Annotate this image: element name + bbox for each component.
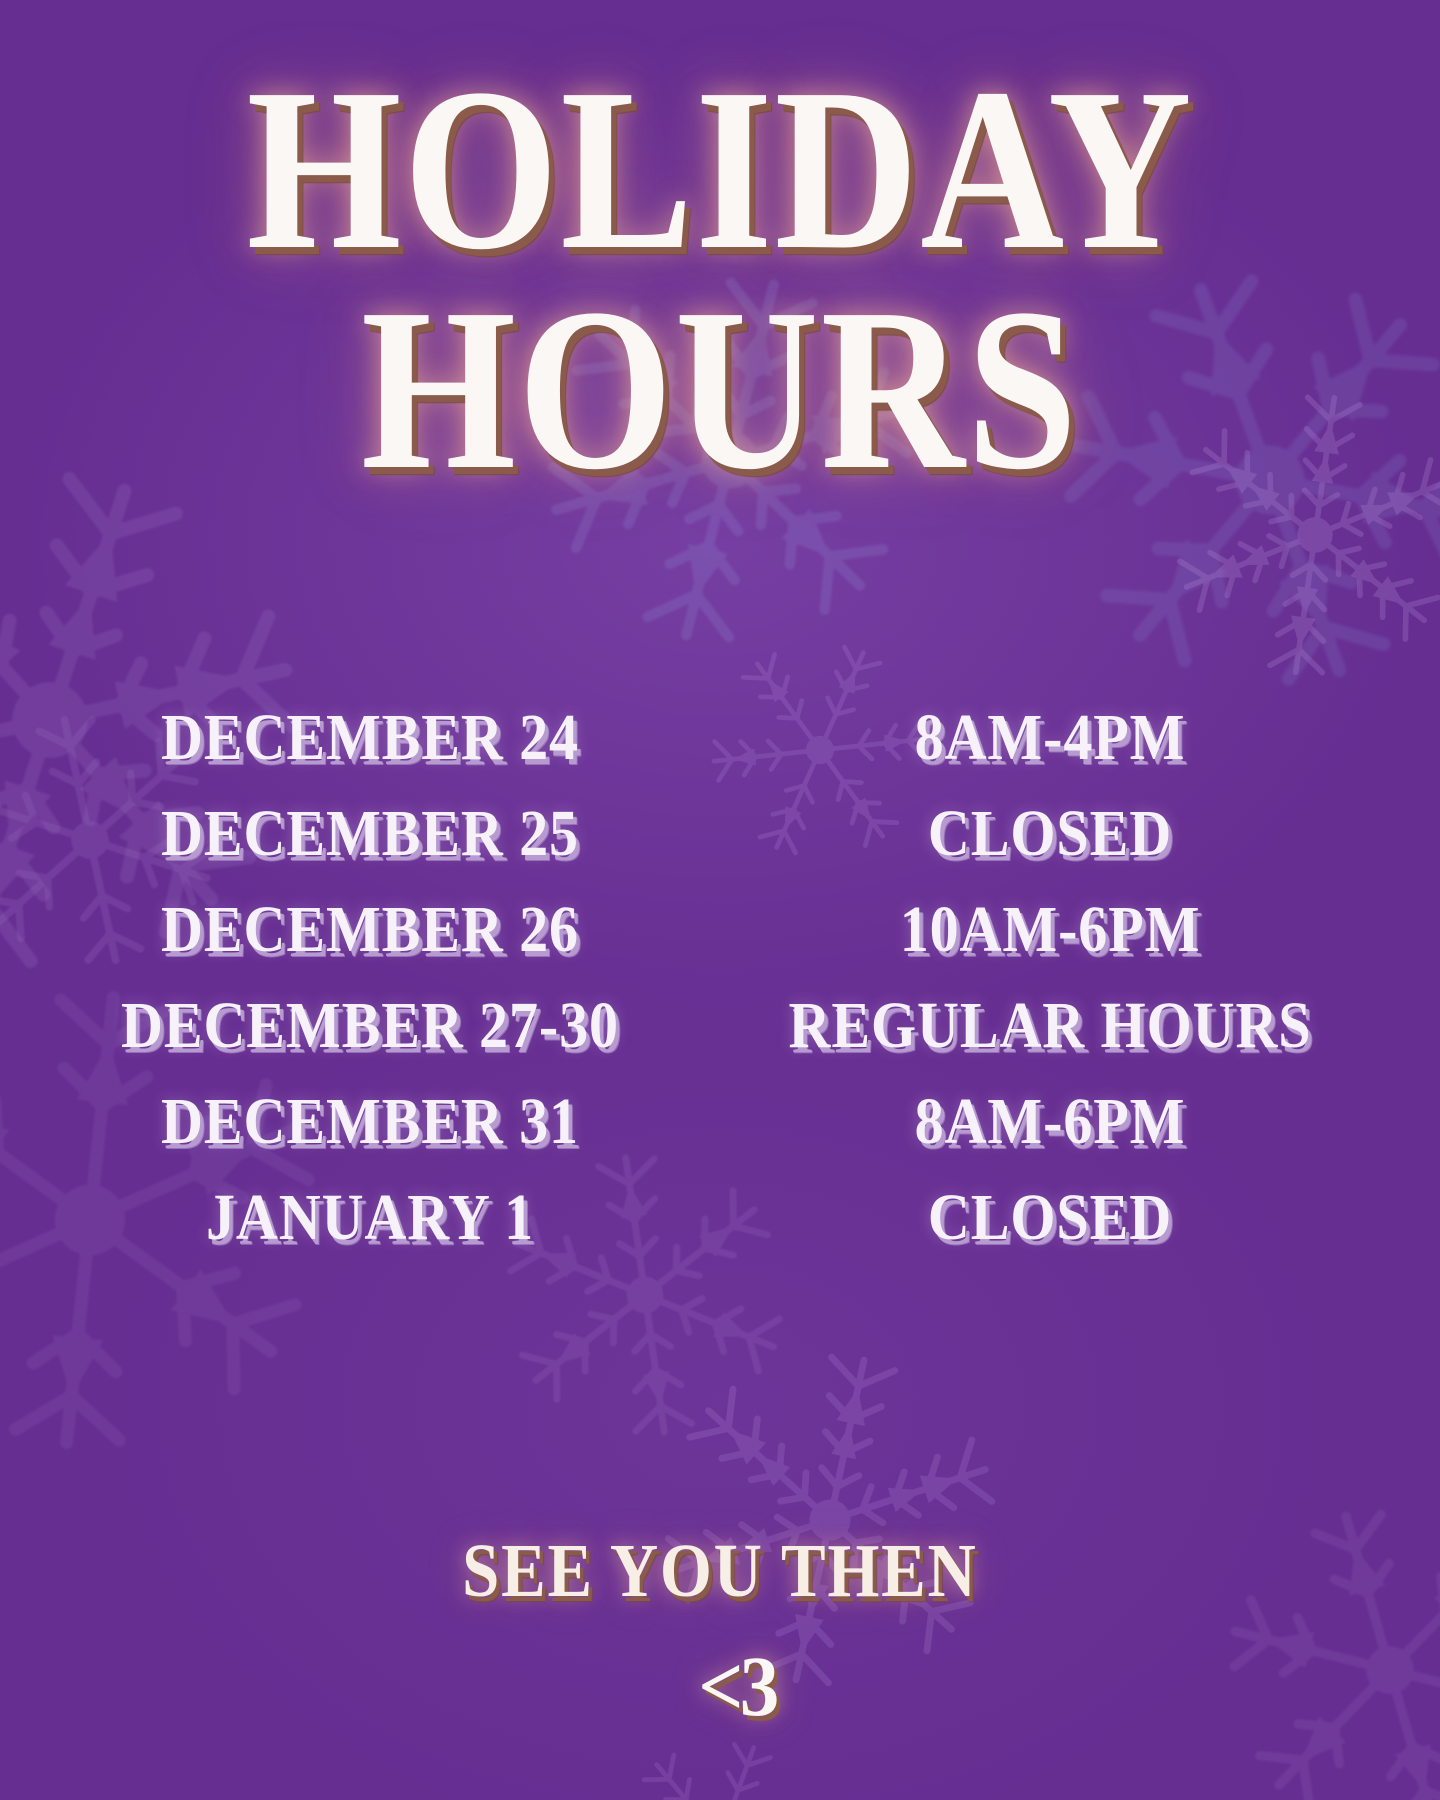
- hours-time: 8AM-6PM: [742, 1084, 1358, 1160]
- title-line-holiday: HOLIDAY: [101, 62, 1339, 278]
- heart-emoticon: <3: [0, 1636, 1440, 1736]
- snowflake-icon: [1155, 1435, 1440, 1800]
- hours-row: DECEMBER 27-30 REGULAR HOURS: [40, 988, 1400, 1084]
- hours-date: JANUARY 1: [80, 1180, 661, 1256]
- hours-date: DECEMBER 31: [80, 1084, 661, 1160]
- hours-time: CLOSED: [742, 1180, 1358, 1256]
- hours-time: 8AM-4PM: [742, 700, 1358, 776]
- title-line-hours: HOURS: [101, 282, 1339, 498]
- see-you-then-label: SEE YOU THEN: [462, 1528, 977, 1615]
- holiday-hours-poster: HOLIDAY HOURS DECEMBER 24 8AM-4PM DECEMB…: [0, 0, 1440, 1800]
- hours-date: DECEMBER 25: [80, 796, 661, 872]
- heart-emoticon-label: <3: [698, 1636, 775, 1736]
- hours-time: 10AM-6PM: [742, 892, 1358, 968]
- hours-row: DECEMBER 25 CLOSED: [40, 796, 1400, 892]
- hours-date: DECEMBER 26: [80, 892, 661, 968]
- hours-date: DECEMBER 24: [80, 700, 661, 776]
- hours-row: DECEMBER 24 8AM-4PM: [40, 700, 1400, 796]
- hours-time: REGULAR HOURS: [742, 988, 1358, 1064]
- see-you-then-text: SEE YOU THEN: [0, 1528, 1440, 1615]
- hours-date: DECEMBER 27-30: [80, 988, 661, 1064]
- hours-row: JANUARY 1 CLOSED: [40, 1180, 1400, 1276]
- hours-row: DECEMBER 31 8AM-6PM: [40, 1084, 1400, 1180]
- hours-time: CLOSED: [742, 796, 1358, 872]
- hours-row: DECEMBER 26 10AM-6PM: [40, 892, 1400, 988]
- holiday-hours-table: DECEMBER 24 8AM-4PM DECEMBER 25 CLOSED D…: [40, 700, 1400, 1276]
- page-title: HOLIDAY HOURS: [0, 62, 1440, 498]
